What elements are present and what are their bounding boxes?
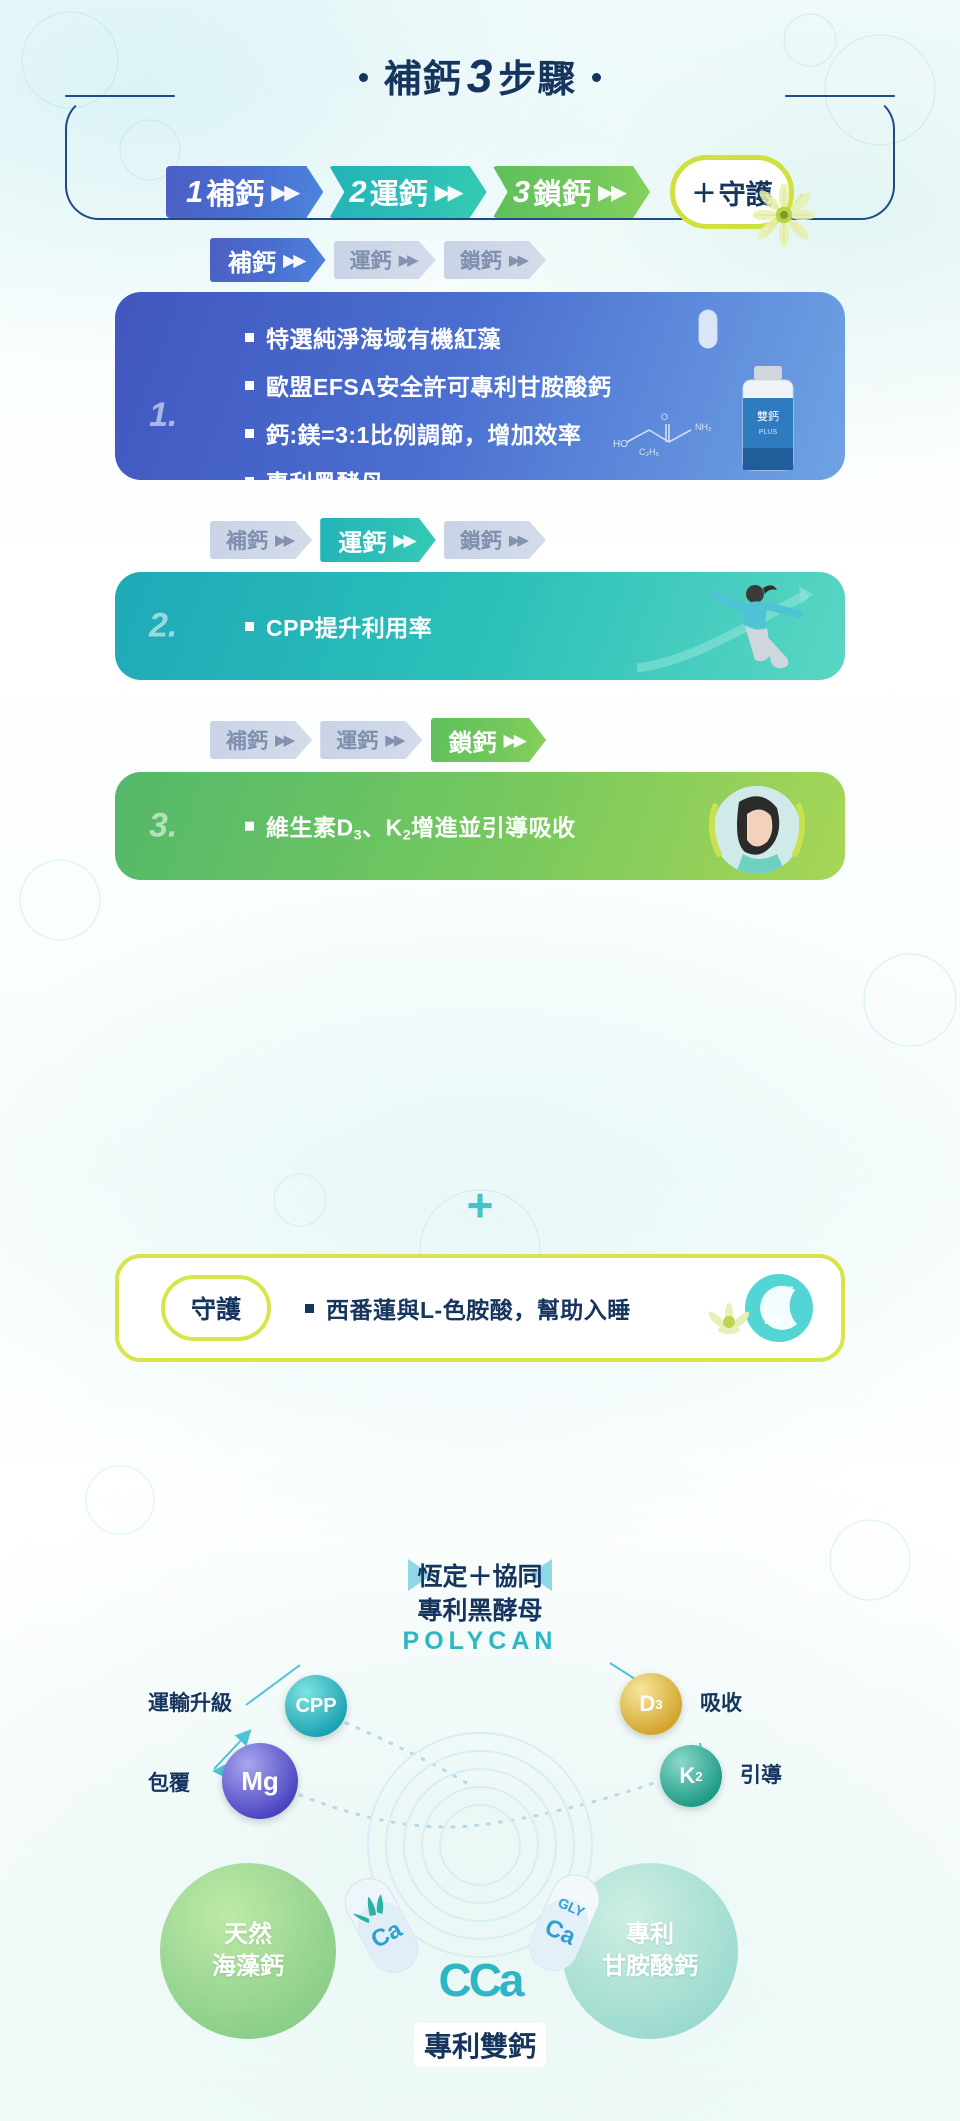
section-1-card: 1. 特選純淨海域有機紅藻 歐盟EFSA安全許可專利甘胺酸鈣 鈣:鎂=3:1比例… <box>115 292 845 480</box>
section-1-tabs: 補鈣 ▶▶ 運鈣 ▶▶ 鎖鈣 ▶▶ <box>0 238 960 282</box>
product-bottle-icon: 雙鈣 PLUS <box>731 364 805 472</box>
label-guide: 引導 <box>740 1759 782 1789</box>
guard-plus-icon: ＋ <box>692 174 717 210</box>
label-wrap: 包覆 <box>148 1767 190 1797</box>
svg-text:NH₂: NH₂ <box>695 422 712 432</box>
section-1: 補鈣 ▶▶ 運鈣 ▶▶ 鎖鈣 ▶▶ 1. 特選純淨海域有機紅藻 <box>0 238 960 480</box>
bullet-text: 西番蓮與L-色胺酸，幫助入睡 <box>326 1291 631 1325</box>
list-item: 西番蓮與L-色胺酸，幫助入睡 <box>305 1291 631 1325</box>
section-3: 補鈣 ▶▶ 運鈣 ▶▶ 鎖鈣 ▶▶ 3. 維生素D3、K2增進並引導吸收 <box>0 718 960 880</box>
node-k2: K2 <box>660 1745 722 1807</box>
bullet-square-icon <box>245 822 254 831</box>
bullet-square-icon <box>245 333 254 342</box>
tab-yun-gai-1[interactable]: 運鈣 ▶▶ <box>334 241 436 279</box>
section-2-tabs: 補鈣 ▶▶ 運鈣 ▶▶ 鎖鈣 ▶▶ <box>0 518 960 562</box>
step-label-1: 補鈣 <box>206 171 264 213</box>
tab-label: 運鈣 <box>338 523 386 558</box>
bullet-square-icon <box>245 381 254 390</box>
node-mg: Mg <box>222 1743 298 1819</box>
tab-suo-gai-1[interactable]: 鎖鈣 ▶▶ <box>444 241 546 279</box>
tab-arrows-icon: ▶▶ <box>504 730 525 751</box>
tab-arrows-icon: ▶▶ <box>509 531 526 549</box>
svg-text:雙鈣: 雙鈣 <box>757 409 779 423</box>
tab-suo-gai-3[interactable]: 鎖鈣 ▶▶ <box>431 718 547 762</box>
tab-yun-gai-2[interactable]: 運鈣 ▶▶ <box>320 518 436 562</box>
section-2-bullets: CPP提升利用率 <box>245 609 432 643</box>
section-3-card: 3. 維生素D3、K2增進並引導吸收 <box>115 772 845 880</box>
bullet-square-icon <box>305 1304 314 1313</box>
section-3-tabs: 補鈣 ▶▶ 運鈣 ▶▶ 鎖鈣 ▶▶ <box>0 718 960 762</box>
title-number: 3 <box>464 49 497 103</box>
guard-badge: 守護 <box>161 1275 271 1341</box>
blob-left-line1: 天然 <box>224 1919 272 1951</box>
tab-bu-gai-3[interactable]: 補鈣 ▶▶ <box>210 721 312 759</box>
step-label-3: 鎖鈣 <box>533 171 591 213</box>
step-index-3: 3 <box>513 174 530 210</box>
svg-text:HO: HO <box>613 439 628 450</box>
tab-arrows-icon: ▶▶ <box>275 531 292 549</box>
tab-bu-gai-2[interactable]: 補鈣 ▶▶ <box>210 521 312 559</box>
svg-text:PLUS: PLUS <box>759 429 778 436</box>
svg-text:C₂H₅: C₂H₅ <box>639 447 659 457</box>
step-index-2: 2 <box>349 174 366 210</box>
section-3-bullets: 維生素D3、K2增進並引導吸收 <box>245 809 576 844</box>
bullet-square-icon <box>245 622 254 631</box>
tab-label: 鎖鈣 <box>449 723 497 758</box>
dual-calcium-footer: 專利雙鈣 <box>0 2023 960 2067</box>
step-chip-3[interactable]: 3 鎖鈣 ▶▶ <box>493 166 650 218</box>
section-2-card: 2. CPP提升利用率 <box>115 572 845 680</box>
section-1-bullets: 特選純淨海域有機紅藻 歐盟EFSA安全許可專利甘胺酸鈣 鈣:鎂=3:1比例調節，… <box>245 320 611 498</box>
list-item: 專利黑酵母 <box>245 464 611 498</box>
step-arrows-icon-3: ▶▶ <box>598 180 624 205</box>
step-arrows-icon-1: ▶▶ <box>271 180 297 205</box>
list-item: 鈣:鎂=3:1比例調節，增加效率 <box>245 416 611 450</box>
guard-bullets: 西番蓮與L-色胺酸，幫助入睡 <box>305 1291 631 1325</box>
blob-natural-seaweed-calcium: 天然 海藻鈣 <box>160 1863 336 2039</box>
node-d3-sub: 3 <box>655 1697 662 1712</box>
section-2: 補鈣 ▶▶ 運鈣 ▶▶ 鎖鈣 ▶▶ 2. CPP提升利用率 <box>0 518 960 680</box>
title-suffix: 步驟 <box>498 48 576 103</box>
bullet-text: 歐盟EFSA安全許可專利甘胺酸鈣 <box>266 368 611 402</box>
tab-arrows-icon: ▶▶ <box>509 251 526 269</box>
svg-text:O: O <box>661 412 668 422</box>
list-item: 維生素D3、K2增進並引導吸收 <box>245 809 576 844</box>
step-label-2: 運鈣 <box>370 171 428 213</box>
step-chip-1[interactable]: 1 補鈣 ▶▶ <box>166 166 323 218</box>
title-prefix: 補鈣 <box>384 48 462 103</box>
polycan-brand: POLYCAN <box>0 1627 960 1656</box>
step-index-1: 1 <box>186 174 203 210</box>
infographic-page: 補鈣 3 步驟 1 補鈣 ▶▶ 2 運鈣 ▶▶ 3 鎖鈣 ▶▶ ＋ 守護 <box>0 0 960 2121</box>
tab-label: 補鈣 <box>226 525 268 555</box>
node-cpp: CPP <box>285 1675 347 1737</box>
bullet-text: CPP提升利用率 <box>266 609 432 643</box>
sleep-trp-icon: z z Trp <box>703 1268 819 1348</box>
tab-label: 補鈣 <box>226 725 268 755</box>
list-item: 歐盟EFSA安全許可專利甘胺酸鈣 <box>245 368 611 402</box>
capsule-icon <box>691 306 725 352</box>
guard-chip[interactable]: ＋ 守護 <box>670 155 794 229</box>
svg-text:z: z <box>776 1290 783 1305</box>
tab-label: 補鈣 <box>228 243 276 278</box>
title-dot-left-icon <box>359 73 368 82</box>
step-arrows-icon-2: ▶▶ <box>435 180 461 205</box>
diagram-title-line1: 恆定＋協同 <box>0 1557 960 1593</box>
tab-label: 鎖鈣 <box>460 245 502 275</box>
list-item: CPP提升利用率 <box>245 609 432 643</box>
node-d3: D3 <box>620 1673 682 1735</box>
tab-bu-gai-1[interactable]: 補鈣 ▶▶ <box>210 238 326 282</box>
diagram-title-line2: 專利黑酵母 <box>0 1591 960 1627</box>
header-steps: 1 補鈣 ▶▶ 2 運鈣 ▶▶ 3 鎖鈣 ▶▶ ＋ 守護 <box>0 155 960 229</box>
label-absorb: 吸收 <box>700 1687 742 1717</box>
tab-arrows-icon: ▶▶ <box>283 250 304 271</box>
guard-card: 守護 西番蓮與L-色胺酸，幫助入睡 z z Trp <box>115 1254 845 1362</box>
section-3-ordinal: 3. <box>149 807 177 846</box>
glycine-formula-icon: HO C₂H₅ O NH₂ <box>609 400 721 462</box>
dual-calcium-label: 專利雙鈣 <box>414 2023 546 2067</box>
blob-right-line1: 專利 <box>626 1919 674 1951</box>
tab-arrows-icon: ▶▶ <box>275 731 292 749</box>
bullet-text: 特選純淨海域有機紅藻 <box>266 320 501 354</box>
section-2-ordinal: 2. <box>149 607 177 646</box>
page-title: 補鈣 3 步驟 <box>0 48 960 103</box>
bullet-square-icon <box>245 429 254 438</box>
node-k2-sub: 2 <box>695 1769 702 1784</box>
tab-suo-gai-2[interactable]: 鎖鈣 ▶▶ <box>444 521 546 559</box>
svg-text:z: z <box>789 1284 794 1295</box>
tab-label: 運鈣 <box>336 725 378 755</box>
tab-arrows-icon: ▶▶ <box>385 731 402 749</box>
bullet-text: 專利黑酵母 <box>266 464 384 498</box>
node-k2-label: K <box>679 1763 695 1789</box>
guard-section: 守護 西番蓮與L-色胺酸，幫助入睡 z z Trp <box>0 1244 960 1362</box>
bottom-diagram: 恆定＋協同 專利黑酵母 POLYCAN 運輸升級 包覆 吸收 引導 CPP Mg… <box>0 1545 960 2121</box>
svg-text:Trp: Trp <box>761 1311 784 1328</box>
section-1-ordinal: 1. <box>149 396 177 435</box>
cca-logo: CCa <box>0 1953 960 2007</box>
list-item: 特選純淨海域有機紅藻 <box>245 320 611 354</box>
tab-label: 鎖鈣 <box>460 525 502 555</box>
tab-label: 運鈣 <box>350 245 392 275</box>
node-d3-label: D <box>639 1691 655 1717</box>
tab-yun-gai-3[interactable]: 運鈣 ▶▶ <box>320 721 422 759</box>
bullet-text-html: 維生素D3、K2增進並引導吸收 <box>266 809 576 844</box>
running-woman-icon <box>627 572 817 680</box>
bullet-square-icon <box>245 477 254 486</box>
label-transport: 運輸升級 <box>148 1687 232 1717</box>
bullet-text: 鈣:鎂=3:1比例調節，增加效率 <box>266 416 581 450</box>
step-chip-2[interactable]: 2 運鈣 ▶▶ <box>329 166 486 218</box>
passionflower-icon <box>753 184 815 246</box>
title-dot-right-icon <box>592 73 601 82</box>
woman-portrait-icon <box>699 772 815 888</box>
plus-separator: + <box>0 1178 960 1232</box>
tab-arrows-icon: ▶▶ <box>393 530 414 551</box>
tab-arrows-icon: ▶▶ <box>399 251 416 269</box>
